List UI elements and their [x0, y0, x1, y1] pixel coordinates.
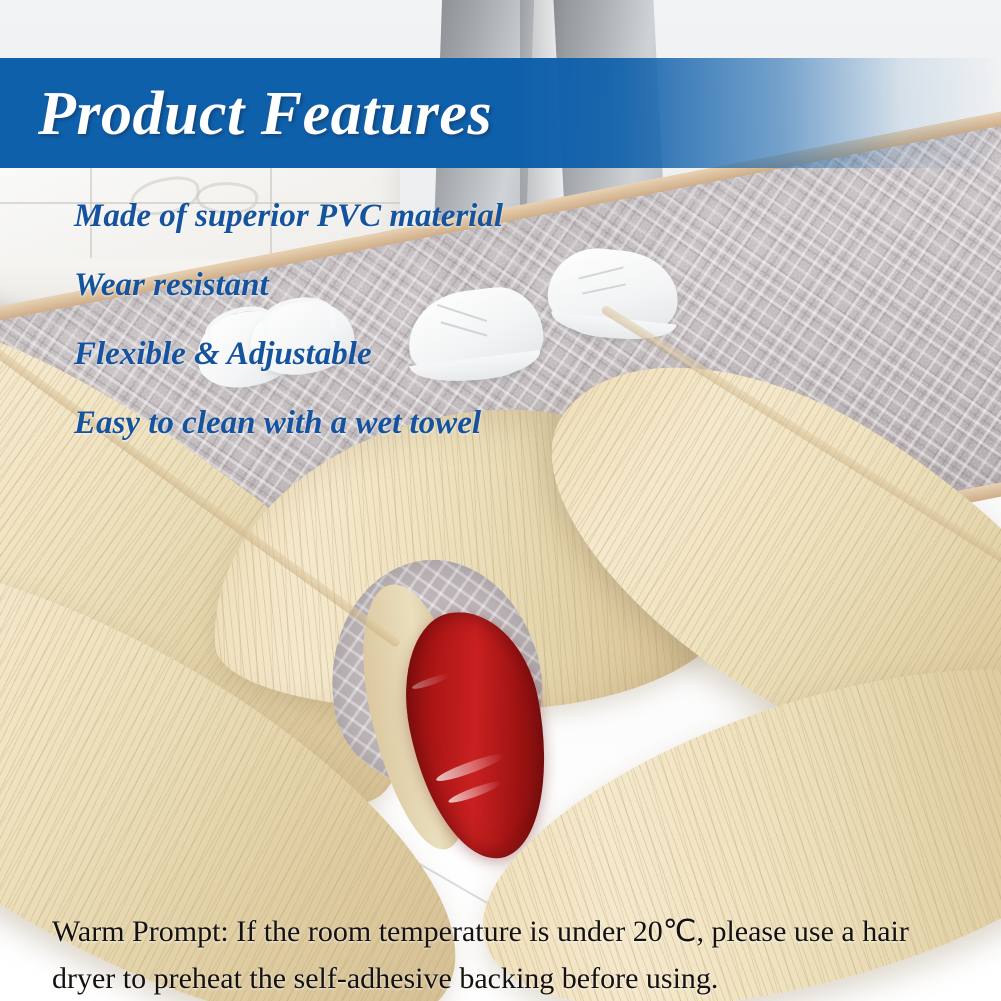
warm-prompt-line-1: Warm Prompt: If the room temperature is …	[52, 908, 962, 955]
warm-prompt: Warm Prompt: If the room temperature is …	[52, 908, 962, 1001]
product-feature-image: Product Features Made of superior PVC ma…	[0, 0, 1001, 1001]
feature-item: Wear resistant	[74, 259, 694, 311]
adhesive-gloss-highlight	[434, 750, 505, 785]
adhesive-gloss-highlight	[447, 778, 503, 806]
feature-item: Easy to clean with a wet towel	[74, 397, 694, 449]
feature-list: Made of superior PVC material Wear resis…	[74, 190, 694, 466]
feature-item: Flexible & Adjustable	[74, 328, 694, 380]
feature-item: Made of superior PVC material	[74, 190, 694, 242]
page-title: Product Features	[38, 66, 492, 162]
warm-prompt-line-2: dryer to preheat the self-adhesive backi…	[52, 955, 962, 1001]
adhesive-gloss-highlight	[411, 672, 451, 692]
